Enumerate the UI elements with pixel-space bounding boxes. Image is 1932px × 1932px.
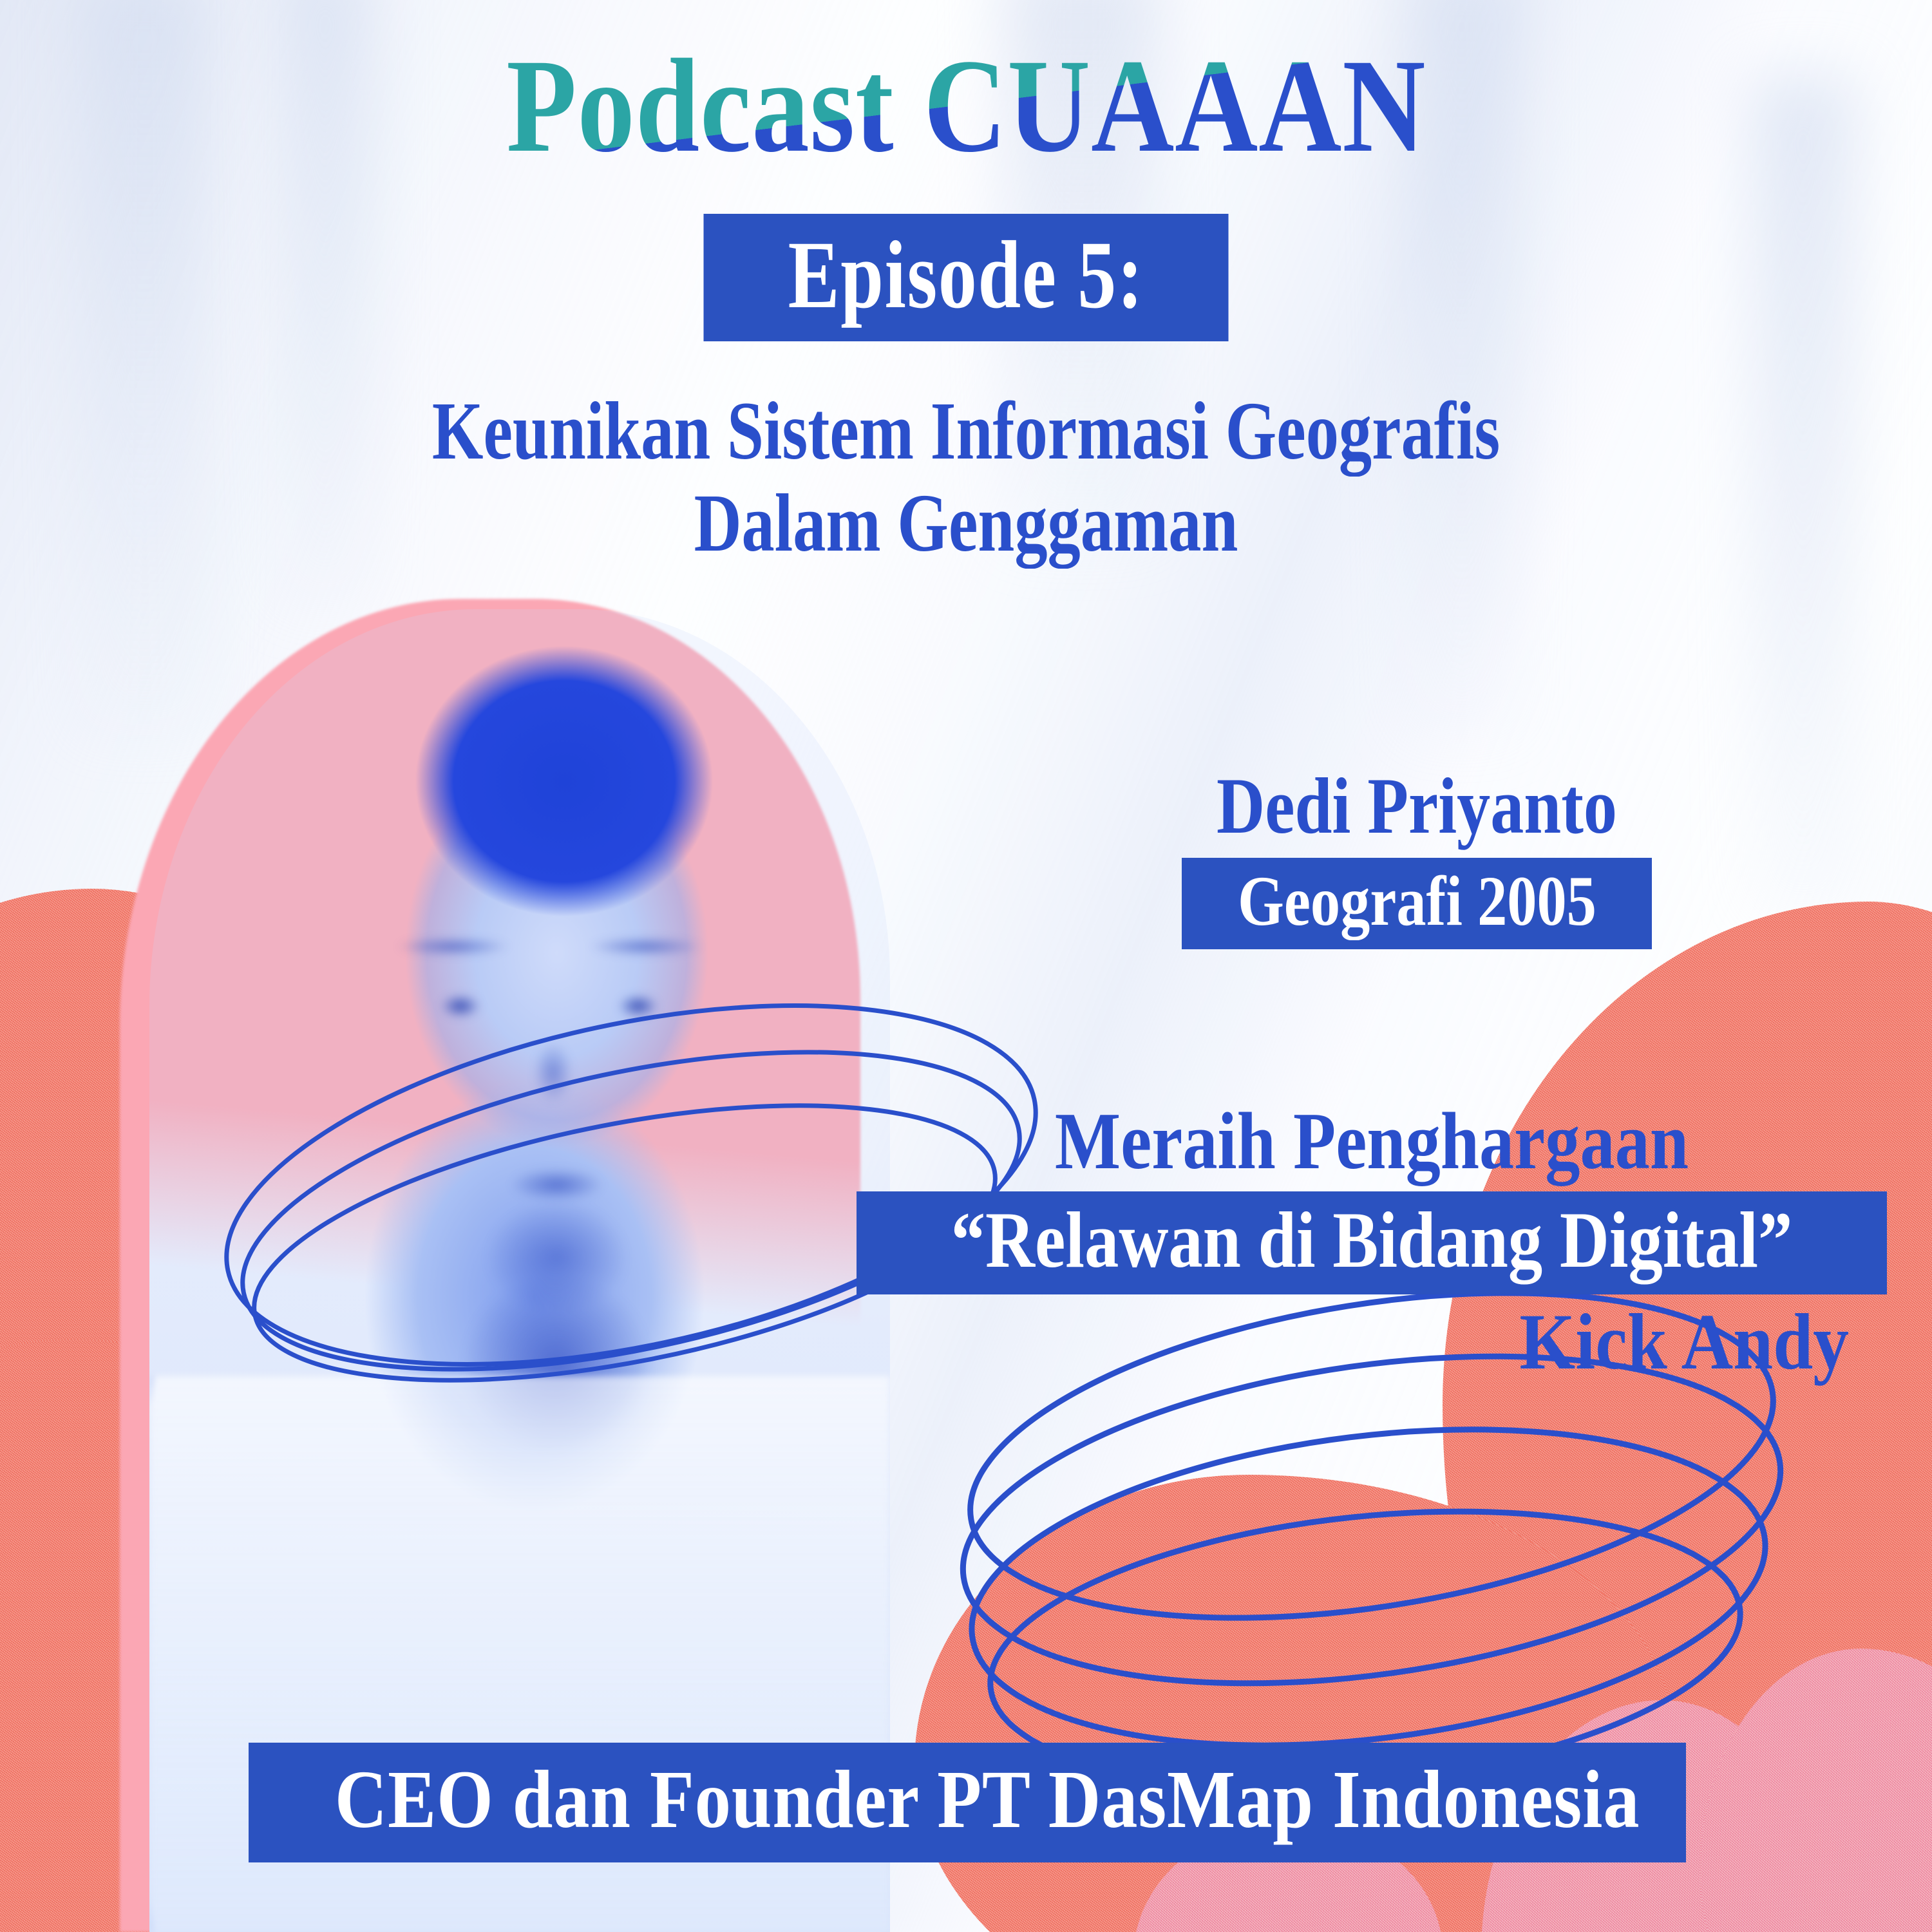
guest-info-block: Dedi Priyanto Geografi 2005 — [992, 766, 1842, 949]
episode-subtitle-line-1: Keunikan Sistem Informasi Geografis — [193, 385, 1739, 477]
guest-portrait — [116, 599, 908, 1932]
guest-role-bar: CEO dan Founder PT DasMap Indonesia — [249, 1743, 1686, 1862]
award-block: Meraih Penghargaan “Relawan di Bidang Di… — [857, 1101, 1887, 1382]
episode-subtitle-line-2: Dalam Genggaman — [193, 477, 1739, 569]
award-lead-text: Meraih Penghargaan — [929, 1101, 1815, 1182]
award-source-row: Kick Andy — [857, 1302, 1887, 1382]
episode-label: Episode 5: — [788, 227, 1144, 323]
portrait-duotone-image — [149, 609, 890, 1932]
guest-role: CEO dan Founder PT DasMap Indonesia — [335, 1758, 1600, 1841]
guest-name: Dedi Priyanto — [1060, 766, 1774, 846]
podcast-episode-poster: Podcast CUAAAN Episode 5: Keunikan Siste… — [0, 0, 1932, 1932]
show-title-block: Podcast CUAAAN — [0, 39, 1932, 173]
episode-subtitle: Keunikan Sistem Informasi Geografis Dala… — [0, 385, 1932, 570]
guest-program-year: Geografi 2005 — [1238, 866, 1596, 936]
award-title: “Relawan di Bidang Digital” — [943, 1200, 1800, 1280]
episode-badge: Episode 5: — [704, 214, 1229, 341]
award-source: Kick Andy — [1520, 1302, 1850, 1382]
show-title: Podcast CUAAAN — [506, 39, 1426, 173]
guest-program-badge: Geografi 2005 — [1182, 858, 1653, 949]
award-title-badge: “Relawan di Bidang Digital” — [857, 1191, 1887, 1294]
